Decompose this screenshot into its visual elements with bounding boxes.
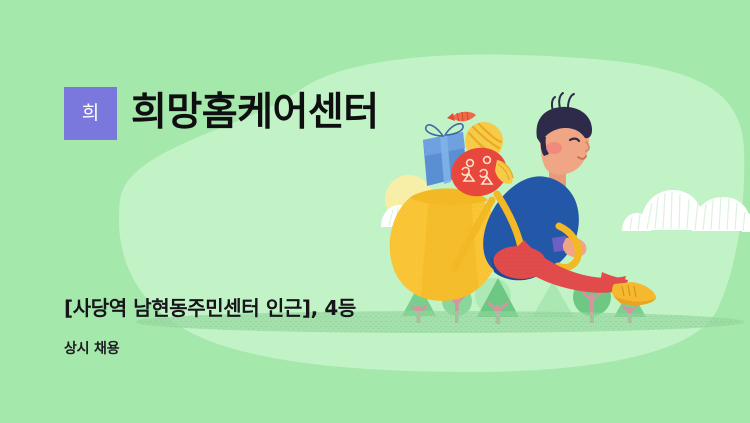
candy — [447, 112, 476, 122]
round-tree — [442, 286, 472, 323]
background-blob — [0, 0, 750, 423]
company-logo-badge: 희 — [64, 87, 117, 140]
left-bush — [381, 205, 456, 229]
torso — [483, 176, 579, 280]
logo-initial: 희 — [82, 104, 99, 123]
head — [536, 93, 592, 190]
gift-box — [423, 124, 467, 186]
company-name: 희망홈케어센터 — [131, 92, 379, 134]
gift-sack — [386, 186, 506, 306]
company-header: 희 희망홈케어센터 — [64, 66, 379, 160]
job-posting-card: 희 희망홈케어센터 [사당역 남현동주민센터 인근], 4등 상시 채용 — [0, 0, 750, 423]
pine-tree — [477, 278, 519, 324]
hiring-status: 상시 채용 — [64, 338, 119, 358]
front-arm — [496, 205, 586, 257]
running-delivery-person-illustration — [0, 0, 750, 423]
sun-circle — [385, 175, 433, 223]
gift-items — [423, 112, 513, 202]
right-shoe — [612, 282, 656, 305]
sack-straps — [455, 194, 578, 268]
job-location: [사당역 남현동주민센터 인근], 4등 — [64, 292, 356, 321]
back-leg — [393, 232, 474, 275]
front-leg — [494, 240, 657, 305]
right-bush — [622, 190, 750, 232]
red-ornament — [446, 142, 513, 202]
pine-tree — [402, 284, 436, 323]
yellow-ornament — [465, 122, 503, 160]
pine-tree — [614, 288, 646, 323]
round-tree — [573, 278, 611, 323]
left-shoe — [393, 248, 420, 268]
tree-row — [402, 278, 646, 324]
